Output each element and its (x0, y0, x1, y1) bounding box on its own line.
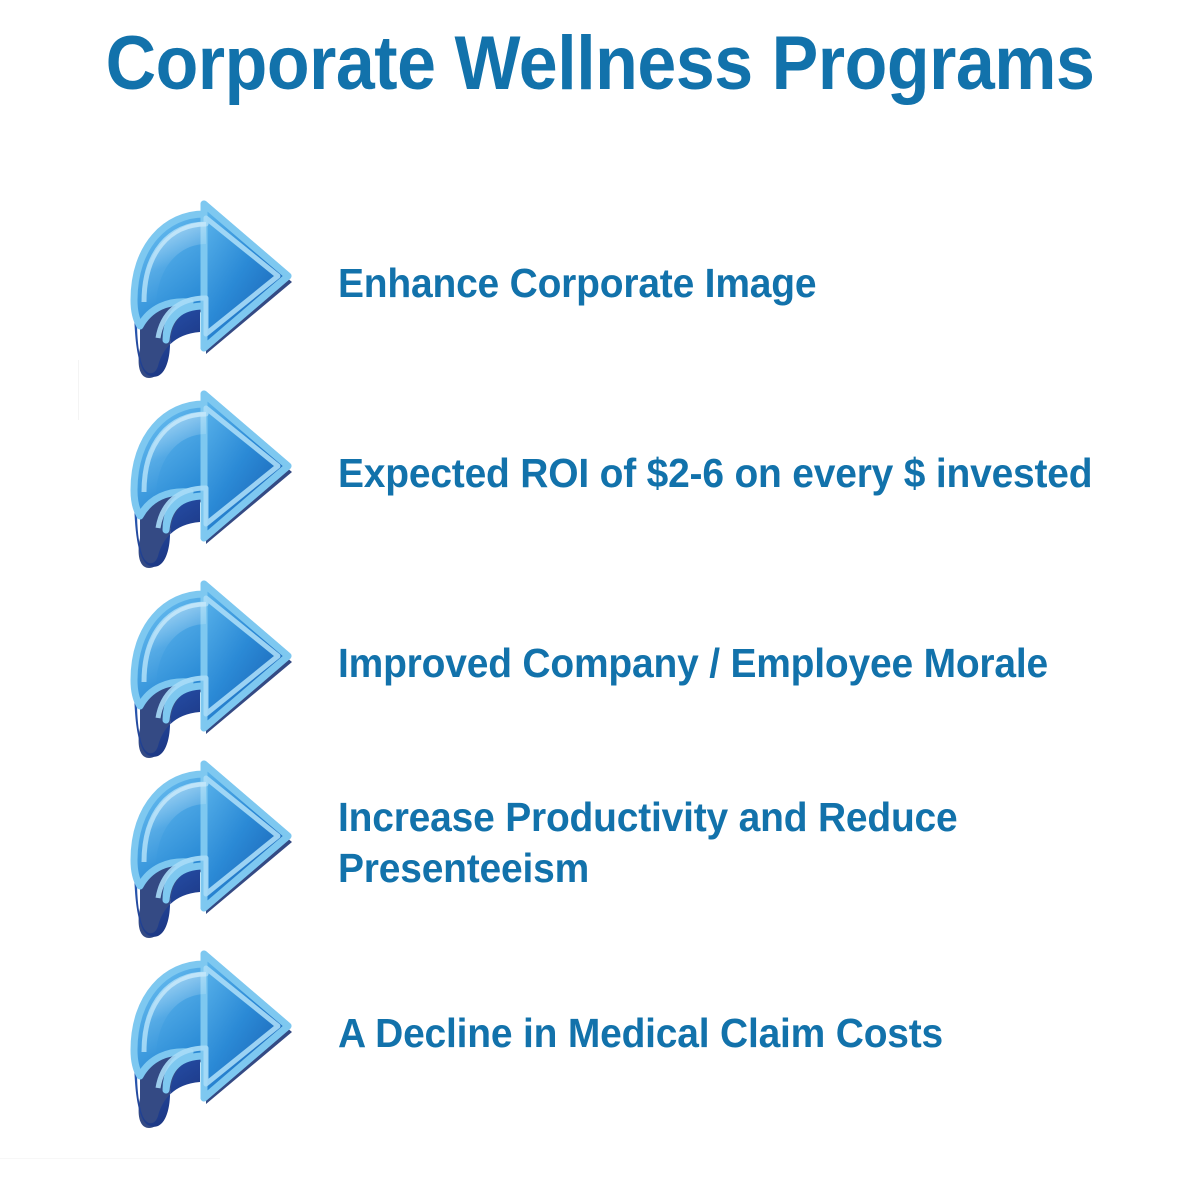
bullet-text-increase-productivity: Increase Productivity and ReducePresente… (338, 750, 1127, 936)
bullet-row: Improved Company / Employee Morale (0, 570, 1200, 750)
curved-right-arrow-icon (128, 204, 296, 382)
bullet-text-enhance-corporate-image: Enhance Corporate Image (338, 190, 1127, 376)
curved-right-arrow-icon (128, 954, 296, 1132)
bullet-row: Enhance Corporate Image (0, 190, 1200, 380)
page-title: Corporate Wellness Programs (48, 18, 1152, 110)
bullet-row: A Decline in Medical Claim Costs (0, 940, 1200, 1130)
slide-canvas: Corporate Wellness Programs (0, 0, 1200, 1200)
curved-right-arrow-icon (128, 394, 296, 572)
curved-right-arrow-icon (128, 394, 296, 572)
bullet-row: Expected ROI of $2-6 on every $ invested (0, 380, 1200, 570)
curved-right-arrow-icon (128, 764, 296, 942)
bullet-text-improved-morale: Improved Company / Employee Morale (338, 570, 1127, 756)
curved-right-arrow-icon (128, 764, 296, 942)
bullet-row: Increase Productivity and ReducePresente… (0, 750, 1200, 940)
bullet-line: A Decline in Medical Claim Costs (338, 1008, 943, 1059)
bullet-line: Enhance Corporate Image (338, 258, 816, 309)
bullet-line: Presenteeism (338, 843, 958, 894)
curved-right-arrow-icon (128, 584, 296, 762)
curved-right-arrow-icon (128, 954, 296, 1132)
bullet-text-decline-medical-claims: A Decline in Medical Claim Costs (338, 940, 1127, 1126)
curved-right-arrow-icon (128, 584, 296, 762)
bullet-text-expected-roi: Expected ROI of $2-6 on every $ invested (338, 380, 1127, 566)
curved-right-arrow-icon (128, 204, 296, 382)
bullet-line: Increase Productivity and Reduce (338, 792, 958, 843)
bullet-line: Improved Company / Employee Morale (338, 638, 1048, 689)
bullet-list: Enhance Corporate Image (0, 190, 1200, 1130)
bullet-line: Expected ROI of $2-6 on every $ invested (338, 448, 1092, 499)
raster-seam-artifact-bottom (0, 1158, 220, 1159)
